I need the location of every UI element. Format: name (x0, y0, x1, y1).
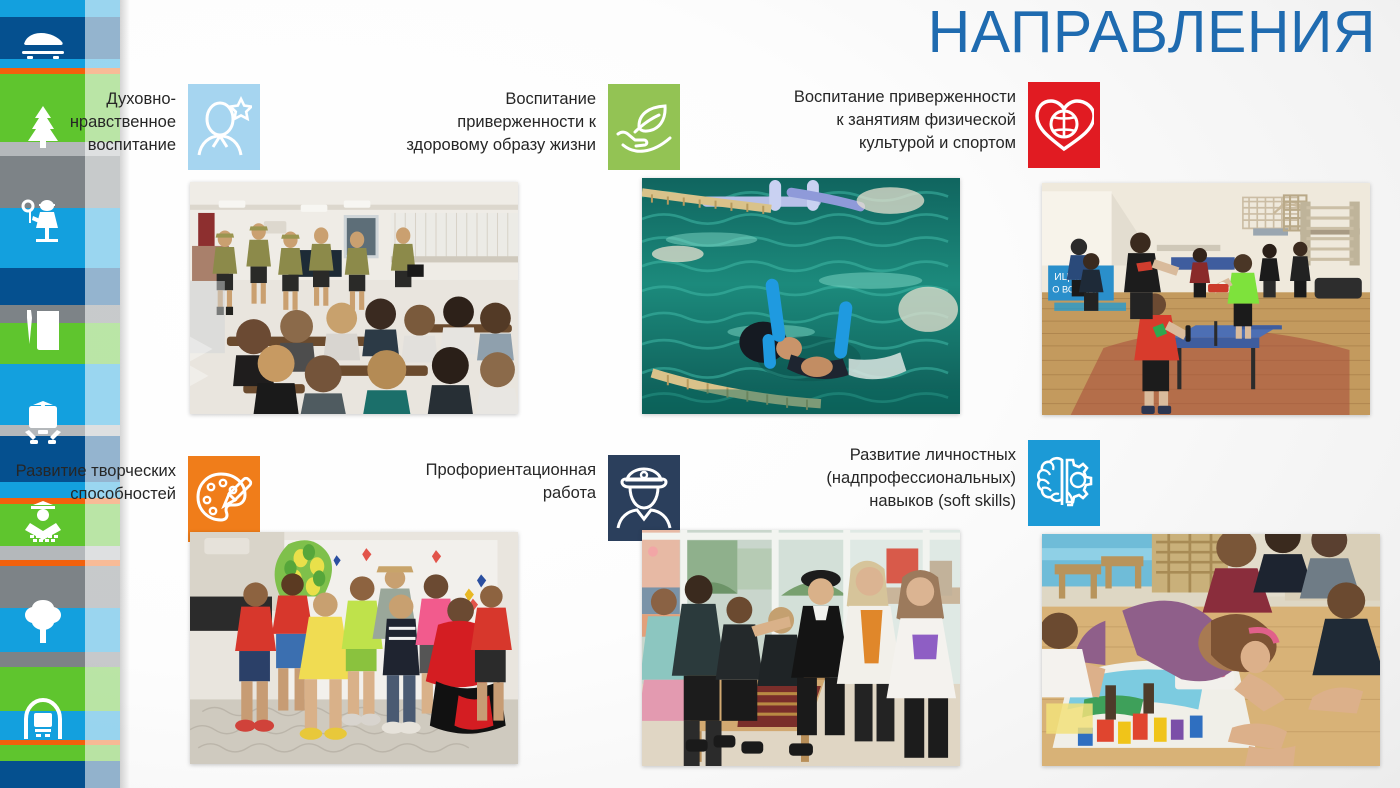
card-header-career-guidance: Профориентационная работа (320, 455, 680, 541)
sidebar-band (85, 608, 120, 652)
sidebar-band (0, 0, 85, 17)
sidebar-band (85, 745, 120, 761)
sidebar-band (0, 546, 85, 561)
directions-grid: Духовно- нравственное воспитание (130, 0, 1400, 788)
sidebar-band (85, 17, 120, 59)
card-header-soft-skills: Развитие личностных (надпрофессиональных… (710, 440, 1100, 526)
card-label-physical-culture-sport: Воспитание приверженности к занятиям физ… (794, 82, 1016, 154)
card-header-spiritual-moral: Духовно- нравственное воспитание (0, 84, 260, 170)
card-label-healthy-lifestyle: Воспитание приверженности к здоровому об… (406, 84, 596, 156)
card-photo-physical-culture-sport: ИЦИИ О ВОЙНЫ (1042, 183, 1370, 415)
sidebar-band (85, 667, 120, 711)
sidebar-band (0, 667, 85, 711)
slide-root: НАПРАВЛЕНИЯ Духовно- нравственное воспит… (0, 0, 1400, 788)
brain-gear-icon (1028, 440, 1100, 526)
sidebar-band (0, 745, 85, 761)
sidebar-band (0, 268, 85, 305)
sidebar-band (85, 546, 120, 561)
card-photo-creative-abilities (190, 532, 518, 764)
sidebar-band (85, 59, 120, 68)
heart-ball-icon (1028, 82, 1100, 168)
card-label-soft-skills: Развитие личностных (надпрофессиональных… (826, 440, 1016, 512)
sidebar-band (85, 425, 120, 436)
card-label-spiritual-moral: Духовно- нравственное воспитание (70, 84, 176, 156)
card-header-physical-culture-sport: Воспитание приверженности к занятиям физ… (710, 82, 1100, 168)
officer-cap-icon (608, 455, 680, 541)
sidebar-band (85, 208, 120, 268)
sidebar-band (0, 711, 85, 739)
card-photo-spiritual-moral (190, 182, 518, 414)
person-star-icon (188, 84, 260, 170)
sidebar-band (0, 59, 85, 68)
sidebar-band (0, 323, 85, 365)
sidebar-band (85, 305, 120, 322)
sidebar-band (85, 761, 120, 788)
sidebar-band (0, 17, 85, 59)
sidebar-band (85, 0, 120, 17)
card-photo-career-guidance (642, 530, 960, 766)
palette-brush-icon (188, 456, 260, 542)
sidebar-band (85, 323, 120, 365)
sidebar-band (0, 364, 85, 424)
card-header-healthy-lifestyle: Воспитание приверженности к здоровому об… (320, 84, 680, 170)
sidebar-band (85, 364, 120, 424)
sidebar-band (85, 711, 120, 739)
sidebar-band (85, 268, 120, 305)
card-label-creative-abilities: Развитие творческих способностей (16, 456, 176, 506)
sidebar-band (85, 652, 120, 667)
sidebar-band (0, 305, 85, 322)
card-photo-soft-skills (1042, 534, 1380, 766)
sidebar-band (0, 208, 85, 268)
sidebar-band (0, 608, 85, 652)
sidebar-band (85, 566, 120, 608)
card-photo-healthy-lifestyle (642, 178, 960, 414)
leaf-in-hand-icon (608, 84, 680, 170)
sidebar-band (0, 425, 85, 436)
sidebar-band (0, 566, 85, 608)
card-label-career-guidance: Профориентационная работа (426, 455, 596, 505)
card-header-creative-abilities: Развитие творческих способностей (0, 456, 260, 542)
sidebar-band (0, 761, 85, 788)
sidebar-band (0, 652, 85, 667)
